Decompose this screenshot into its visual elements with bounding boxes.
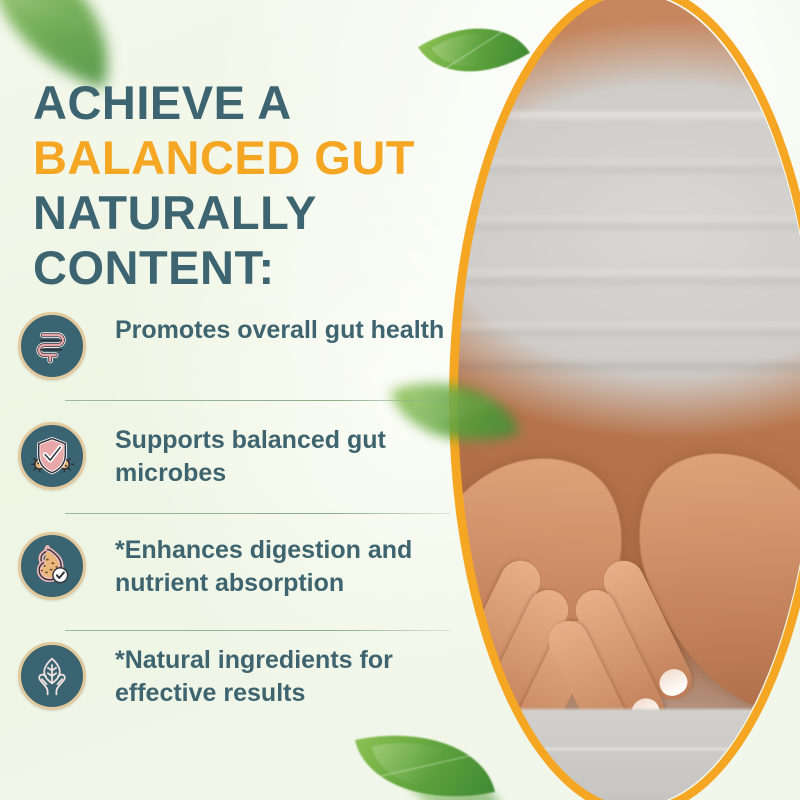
- list-item-label: Promotes overall gut health: [115, 314, 460, 347]
- list-item: Supports balanced gut microbes: [0, 410, 470, 520]
- headline-line-1: ACHIEVE A: [33, 75, 503, 130]
- list-item-label: *Enhances digestion and nutrient absorpt…: [115, 534, 460, 600]
- shield-check-microbes-icon: [18, 422, 86, 490]
- promo-banner: ACHIEVE A BALANCED GUT NATURALLY CONTENT…: [0, 0, 800, 800]
- stomach-check-icon: [18, 532, 86, 600]
- divider: [65, 513, 450, 514]
- intestine-icon: [18, 312, 86, 380]
- headline-line-3: NATURALLY: [33, 185, 503, 240]
- list-item-label: Supports balanced gut microbes: [115, 424, 460, 490]
- headline-line-2: BALANCED GUT: [33, 130, 503, 185]
- list-item: *Natural ingredients for effective resul…: [0, 630, 470, 740]
- list-item-label: *Natural ingredients for effective resul…: [115, 644, 460, 710]
- hands-holding-leaf-icon: [18, 642, 86, 710]
- page-title: ACHIEVE A BALANCED GUT NATURALLY CONTENT…: [33, 75, 503, 295]
- feature-list: Promotes overall gut health: [0, 300, 470, 740]
- list-item: *Enhances digestion and nutrient absorpt…: [0, 520, 470, 630]
- headline-line-4: CONTENT:: [33, 240, 503, 295]
- divider: [65, 400, 450, 401]
- list-item: Promotes overall gut health: [0, 300, 470, 410]
